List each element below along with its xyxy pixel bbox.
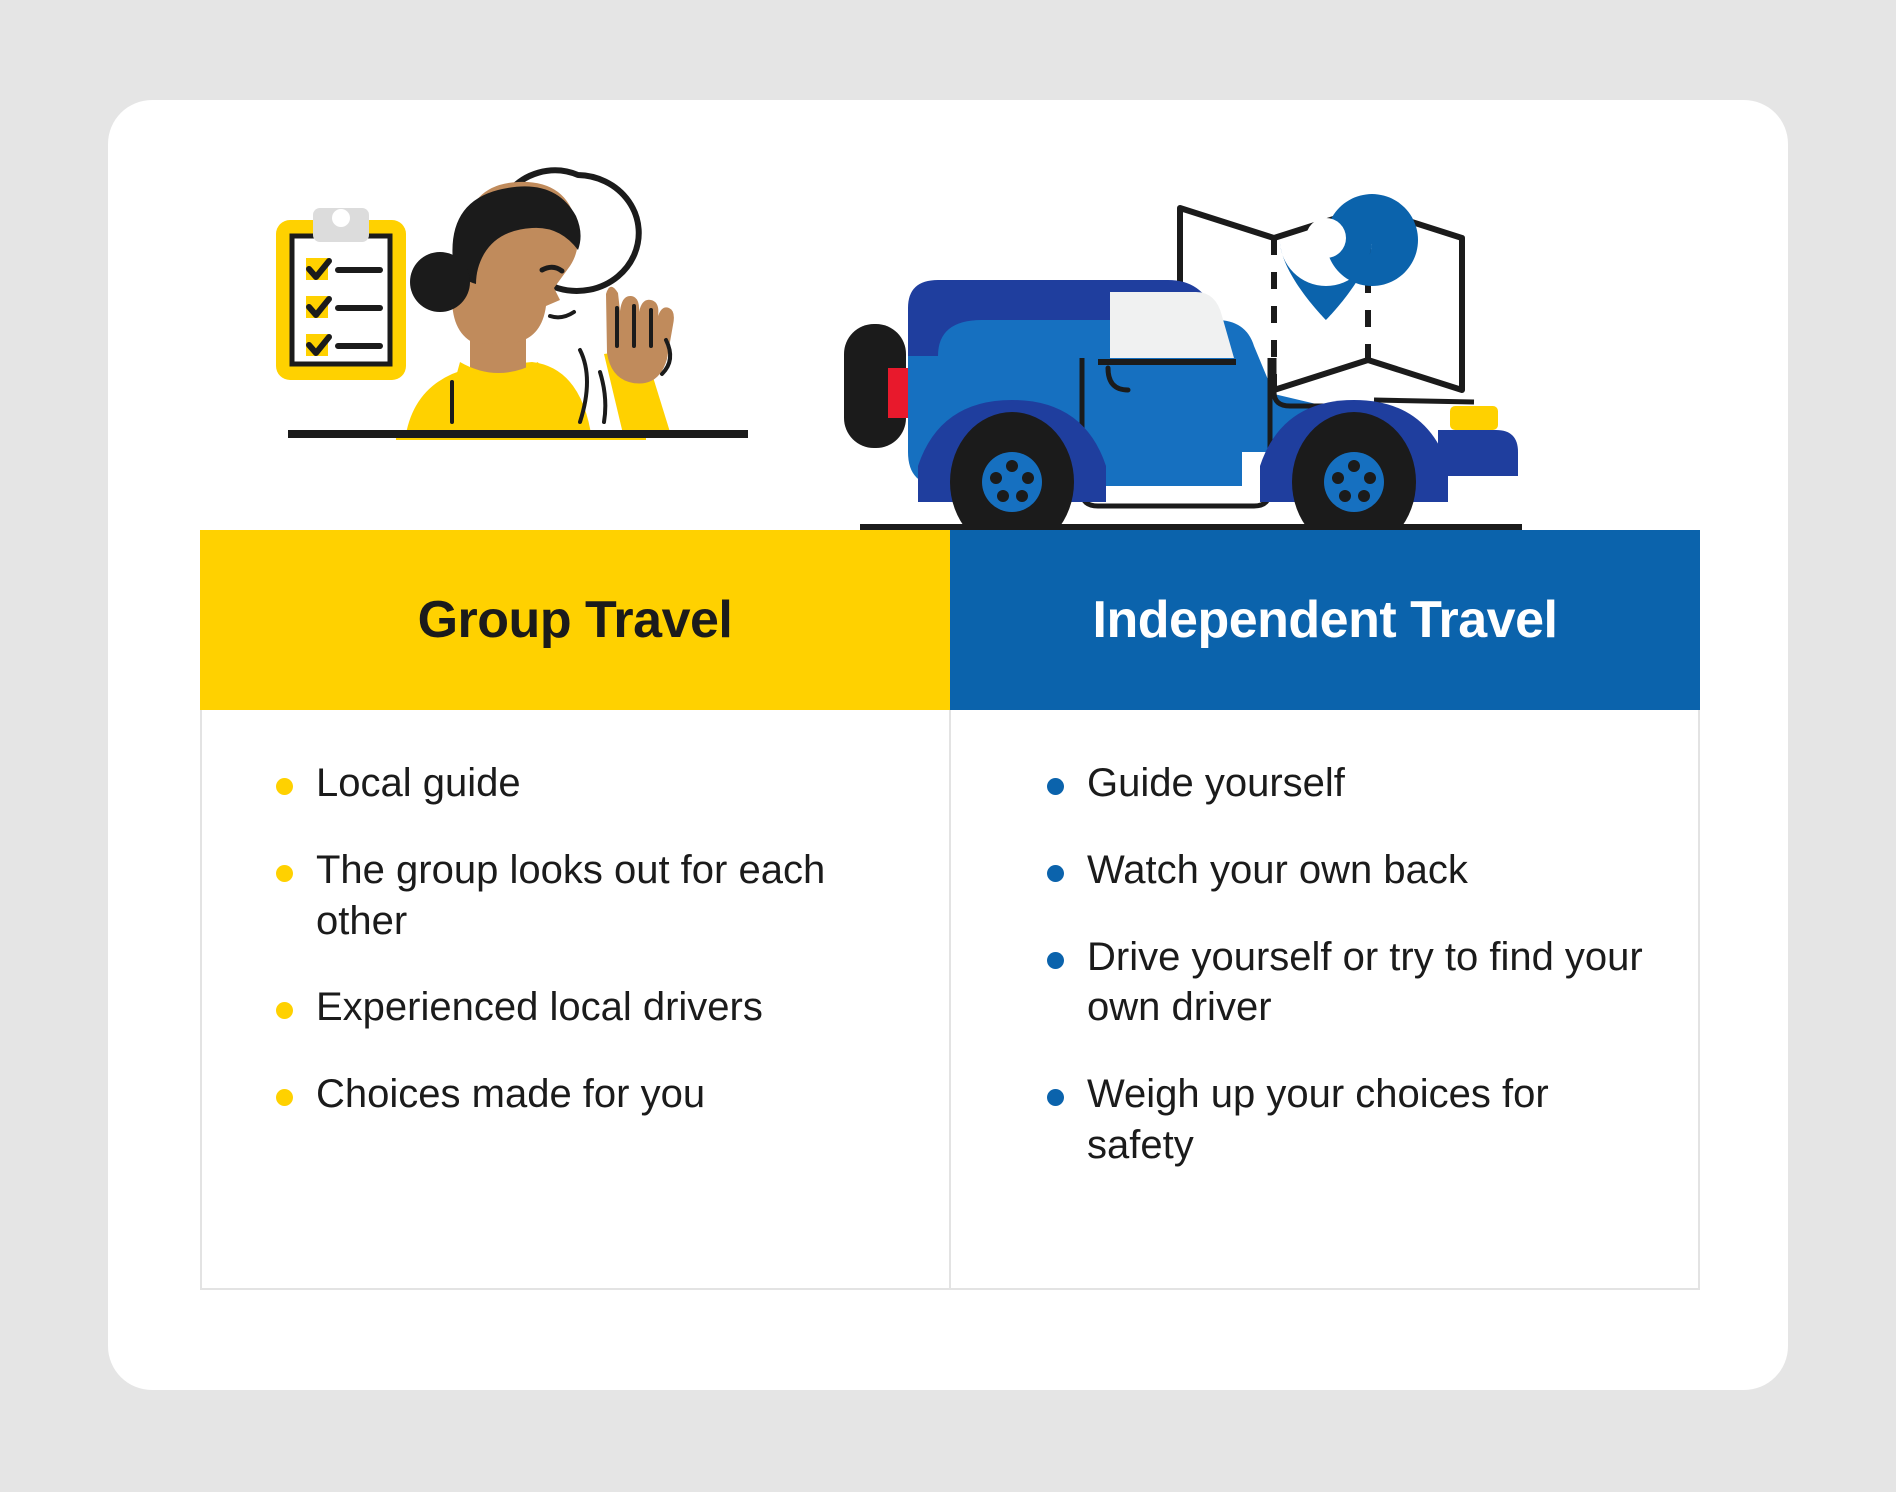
column-body-independent-travel: Guide yourself Watch your own back Drive… (951, 710, 1698, 1288)
clipboard-checklist-icon (276, 208, 406, 380)
table-body-row: Local guide The group looks out for each… (200, 710, 1700, 1290)
independent-travel-point-list: Guide yourself Watch your own back Drive… (1037, 758, 1656, 1171)
comparison-table: Group Travel Independent Travel Local gu… (200, 530, 1700, 1290)
infographic-root: Group Travel Independent Travel Local gu… (0, 0, 1896, 1492)
table-header-row: Group Travel Independent Travel (200, 530, 1700, 710)
list-item: Guide yourself (1037, 758, 1656, 809)
list-item: Drive yourself or try to find your own d… (1037, 932, 1656, 1034)
illustration-band (108, 100, 1788, 530)
column-header-independent-travel: Independent Travel (950, 530, 1700, 710)
column-body-group-travel: Local guide The group looks out for each… (202, 710, 951, 1288)
list-item: Experienced local drivers (266, 982, 906, 1033)
list-item: Local guide (266, 758, 906, 809)
list-item: The group looks out for each other (266, 845, 906, 947)
column-title: Independent Travel (1093, 594, 1558, 646)
group-travel-point-list: Local guide The group looks out for each… (266, 758, 907, 1120)
illustration-svg (108, 100, 1788, 530)
comparison-card: Group Travel Independent Travel Local gu… (108, 100, 1788, 1390)
list-item: Watch your own back (1037, 845, 1656, 896)
column-header-group-travel: Group Travel (200, 530, 950, 710)
list-item: Choices made for you (266, 1069, 906, 1120)
column-title: Group Travel (418, 594, 733, 646)
list-item: Weigh up your choices for safety (1037, 1069, 1656, 1171)
